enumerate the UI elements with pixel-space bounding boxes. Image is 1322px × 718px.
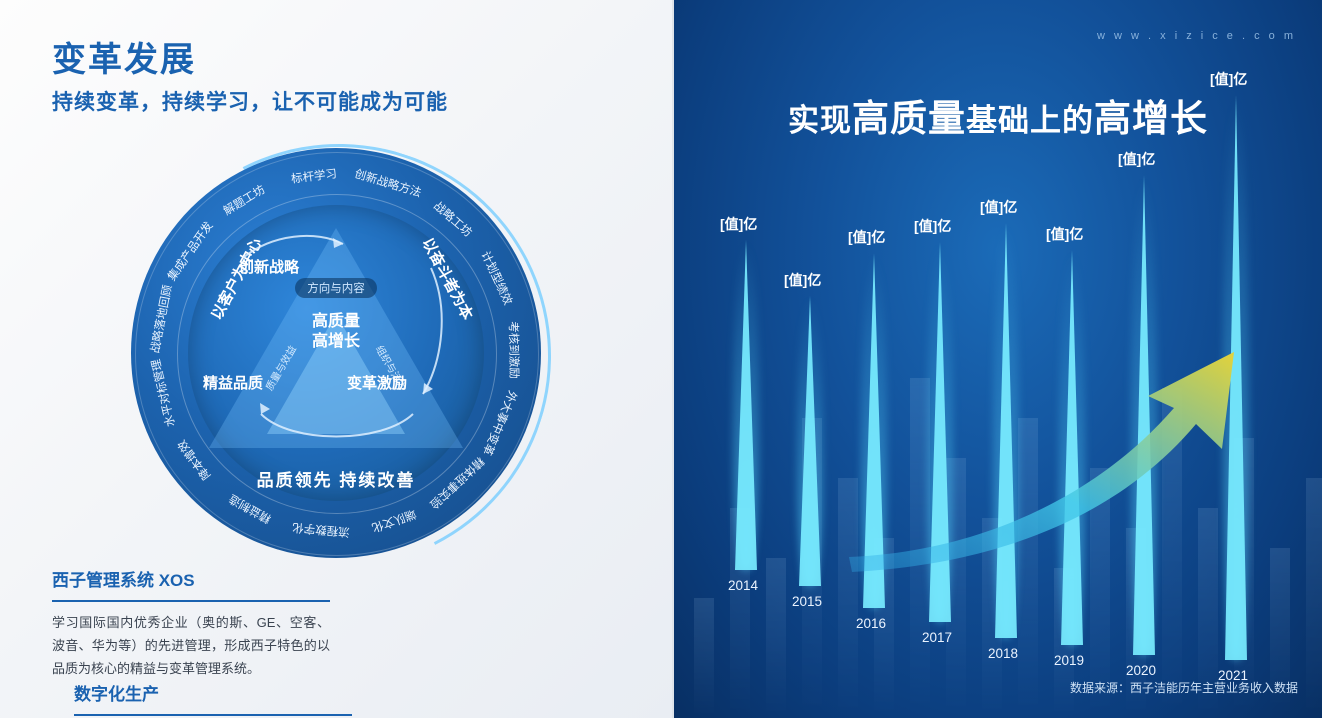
page-subtitle: 持续变革，持续学习，让不可能成为可能 [52,86,448,116]
footer-column-xos: 西子管理系统 XOS 学习国际国内优秀企业（奥的斯、GE、空客、波音、华为等）的… [52,566,330,680]
x-axis-label-2015: 2015 [792,594,822,609]
right-panel: w w w . x i z i c e . c o m 实现高质量基础上的高增长… [674,0,1322,718]
footer-divider-xos [52,600,330,602]
footer-columns: 西子管理系统 XOS 学习国际国内优秀企业（奥的斯、GE、空客、波音、华为等）的… [52,566,632,718]
bar-value-label-2021: [值]亿 [1210,69,1247,89]
footer-column-digital: 数字化生产 制定数字化3年发展规划，引进西门子数字化管理的理念与模式，打造西子洁… [74,680,352,718]
x-axis-label-2014: 2014 [728,578,758,593]
x-axis-label-2020: 2020 [1126,663,1156,678]
bar-body [799,296,821,586]
footer-text-xos: 学习国际国内优秀企业（奥的斯、GE、空客、波音、华为等）的先进管理，形成西子特色… [52,612,330,680]
bar-body [929,242,951,622]
bar-value-label-2018: [值]亿 [980,197,1017,217]
left-panel: 变革发展 持续变革，持续学习，让不可能成为可能 标杆学习创新战略方法战略工坊计划… [0,0,674,718]
source-note: 数据来源：西子洁能历年主营业务收入数据 [1070,679,1298,696]
footer-heading-xos: 西子管理系统 XOS [52,566,330,591]
bar-body [1225,95,1247,660]
bar-value-label-2015: [值]亿 [784,270,821,290]
x-axis-label-2019: 2019 [1054,653,1084,668]
x-axis-label-2016: 2016 [856,616,886,631]
growth-chart: [值]亿2014[值]亿2015[值]亿2016[值]亿2017[值]亿2018… [674,0,1322,718]
bar-value-label-2017: [值]亿 [914,216,951,236]
bar-body [1133,175,1155,655]
page-title: 变革发展 [52,32,196,81]
bar-body [1061,250,1083,645]
management-system-diagram: 标杆学习创新战略方法战略工坊计划型绩效考核到激励外大事中变革精体班事实验端队文化… [131,148,541,558]
bar-body [995,223,1017,638]
bar-value-label-2020: [值]亿 [1118,149,1155,169]
x-axis-label-2018: 2018 [988,646,1018,661]
bar-value-label-2019: [值]亿 [1046,224,1083,244]
footer-heading-digital: 数字化生产 [74,680,352,705]
bar-value-label-2016: [值]亿 [848,227,885,247]
cycle-arrows [131,148,541,558]
diagram-slogan: 品质领先 持续改善 [131,466,541,491]
x-axis-label-2017: 2017 [922,630,952,645]
bar-body [735,240,757,570]
bar-value-label-2014: [值]亿 [720,214,757,234]
footer-divider-digital [74,714,352,716]
bar-body [863,253,885,608]
